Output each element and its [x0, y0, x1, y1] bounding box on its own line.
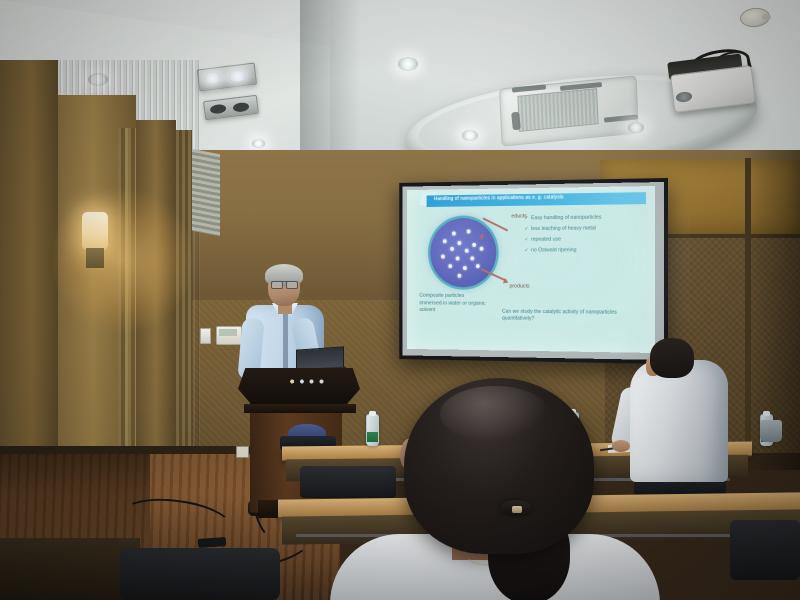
podium-top [238, 368, 360, 406]
power-adapter-brick [198, 537, 227, 548]
smoke-detector-nub [762, 14, 771, 20]
light-switch[interactable] [200, 328, 211, 344]
floor-shadow [0, 448, 150, 548]
attendee-shirt [630, 360, 728, 482]
podium-control-buttons[interactable] [288, 378, 330, 385]
glasses-lens-right [286, 281, 298, 289]
thermostat-display [219, 329, 237, 336]
attendee-hand [612, 440, 630, 452]
paper-cup[interactable] [760, 420, 782, 442]
podium-shelf [244, 404, 356, 413]
lecture-hall-photo: Handling of nanoparticles in application… [0, 0, 800, 600]
bullet-item: repeated use [524, 236, 632, 244]
slide-caption-question: Can we study the catalytic activity of n… [502, 309, 626, 324]
desk-left-foreground [0, 538, 140, 600]
downlight-icon [252, 139, 265, 148]
wall-sconce-bracket [86, 248, 104, 268]
nanoparticle-diagram [430, 218, 496, 288]
chair[interactable] [300, 466, 396, 498]
bullet-item: no Ostwald ripening [524, 247, 632, 255]
hair-highlight [440, 386, 550, 442]
slide-caption-left: Composite particles immersed in water or… [419, 293, 487, 315]
sconce-glow [52, 185, 192, 335]
chair[interactable] [120, 548, 280, 600]
glasses-lens-left [271, 281, 283, 289]
air-vent-louver [511, 112, 521, 131]
products-label: products [509, 284, 529, 290]
presentation-slide: Handling of nanoparticles in application… [407, 186, 655, 353]
wall-corner-edge [745, 158, 751, 458]
downlight-icon [462, 130, 478, 141]
bullet-item: less leaching of heavy metal [524, 225, 632, 233]
downlight-icon [398, 57, 418, 71]
chair[interactable] [730, 520, 800, 580]
wall-sconce-lamp [82, 212, 108, 250]
baseboard [0, 446, 250, 454]
downlight-icon [628, 122, 644, 133]
bullet-item: Easy handling of nanoparticles [524, 214, 632, 222]
attendee-head [650, 338, 694, 378]
air-conditioner-grille [517, 88, 598, 132]
hair-tie-clasp [512, 506, 522, 513]
water-bottle[interactable] [366, 414, 379, 446]
slide-bullet-list: Easy handling of nanoparticles less leac… [524, 214, 632, 258]
